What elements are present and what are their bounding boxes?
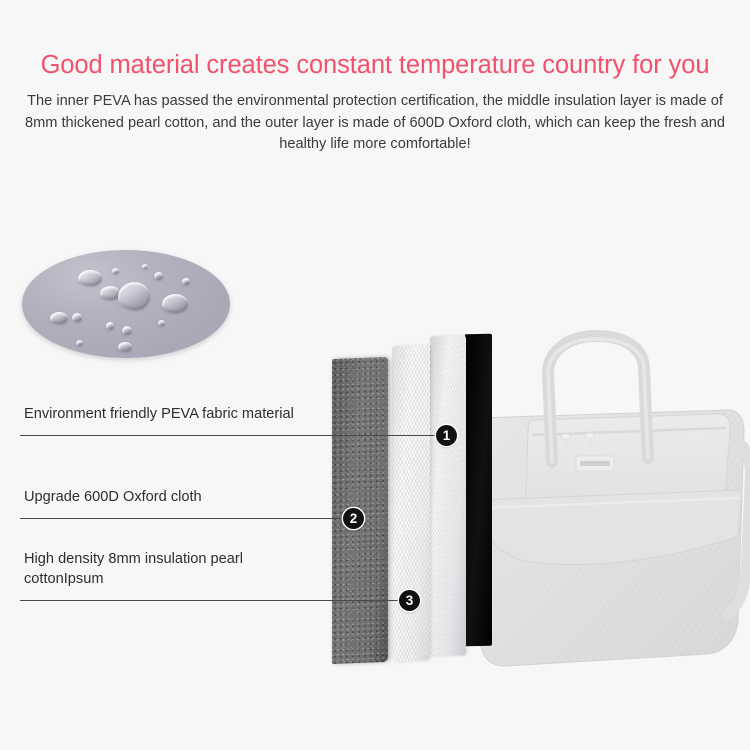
water-drop-icon	[50, 312, 68, 324]
layer-peva-inner	[430, 335, 466, 656]
page-description: The inner PEVA has passed the environmen…	[18, 91, 732, 156]
callout-marker-3[interactable]: 3	[399, 590, 420, 611]
layer-pearl-cotton	[392, 345, 430, 661]
callout-leader-line-1	[20, 435, 447, 436]
water-drop-icon	[72, 313, 82, 322]
water-droplet-swatch	[22, 250, 230, 358]
infographic-page: Good material creates constant temperatu…	[0, 0, 750, 750]
callout-marker-1[interactable]: 1	[436, 425, 457, 446]
callout-marker-2[interactable]: 2	[343, 508, 364, 529]
water-drop-icon	[106, 322, 114, 330]
water-drop-icon	[118, 342, 132, 352]
water-drop-icon	[112, 268, 119, 274]
product-photo	[476, 322, 750, 684]
water-drop-icon	[122, 326, 132, 335]
water-drop-icon	[154, 272, 163, 280]
water-drop-icon	[100, 286, 120, 300]
layer-black-trim-edge	[465, 334, 492, 647]
callout-leader-line-3	[20, 600, 408, 601]
header-block: Good material creates constant temperatu…	[0, 48, 750, 156]
page-title: Good material creates constant temperatu…	[0, 48, 750, 82]
water-drop-icon	[78, 270, 102, 286]
callout-leader-line-2	[20, 518, 352, 519]
water-drop-icon	[158, 320, 165, 326]
callout-label-3: High density 8mm insulation pearl cotton…	[24, 549, 243, 589]
water-drop-icon	[182, 278, 190, 285]
callout-label-1: Environment friendly PEVA fabric materia…	[24, 404, 294, 424]
water-drop-icon	[76, 340, 83, 346]
water-drop-icon	[162, 294, 188, 313]
water-drop-icon	[118, 282, 150, 310]
callout-label-2: Upgrade 600D Oxford cloth	[24, 487, 202, 507]
water-drop-icon	[142, 264, 148, 269]
brand-tag	[576, 456, 614, 471]
fabric-layer-stack	[318, 330, 508, 670]
